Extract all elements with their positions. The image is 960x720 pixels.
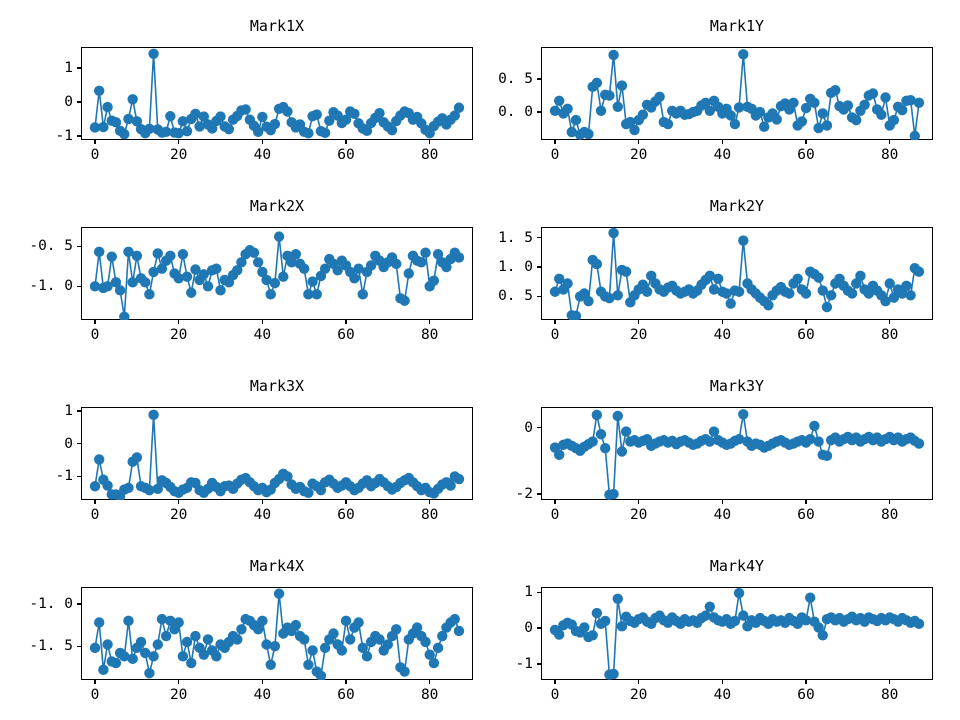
x-tick-mark xyxy=(805,680,806,684)
figure-canvas: Mark1X-101020406080Mark1Y0. 00. 50204060… xyxy=(0,0,960,720)
y-tick-mark xyxy=(537,627,541,628)
x-tick-mark xyxy=(638,680,639,684)
subplot-title: Mark4Y xyxy=(541,557,933,575)
x-tick-label: 0 xyxy=(551,687,560,703)
y-tick-label: -1 xyxy=(361,656,533,672)
subplot-panel: Mark4Y-101020406080 xyxy=(0,0,960,720)
y-tick-mark xyxy=(537,663,541,664)
x-tick-mark xyxy=(554,680,555,684)
y-tick-mark xyxy=(537,592,541,593)
y-tick-label: 0 xyxy=(361,620,533,636)
x-tick-mark xyxy=(889,680,890,684)
x-tick-label: 40 xyxy=(714,687,731,703)
x-tick-label: 20 xyxy=(630,687,647,703)
x-tick-label: 80 xyxy=(881,687,898,703)
series-plot xyxy=(541,587,933,680)
plot-area xyxy=(541,587,933,680)
x-tick-mark xyxy=(722,680,723,684)
y-tick-label: 1 xyxy=(361,584,533,600)
x-tick-label: 60 xyxy=(797,687,814,703)
